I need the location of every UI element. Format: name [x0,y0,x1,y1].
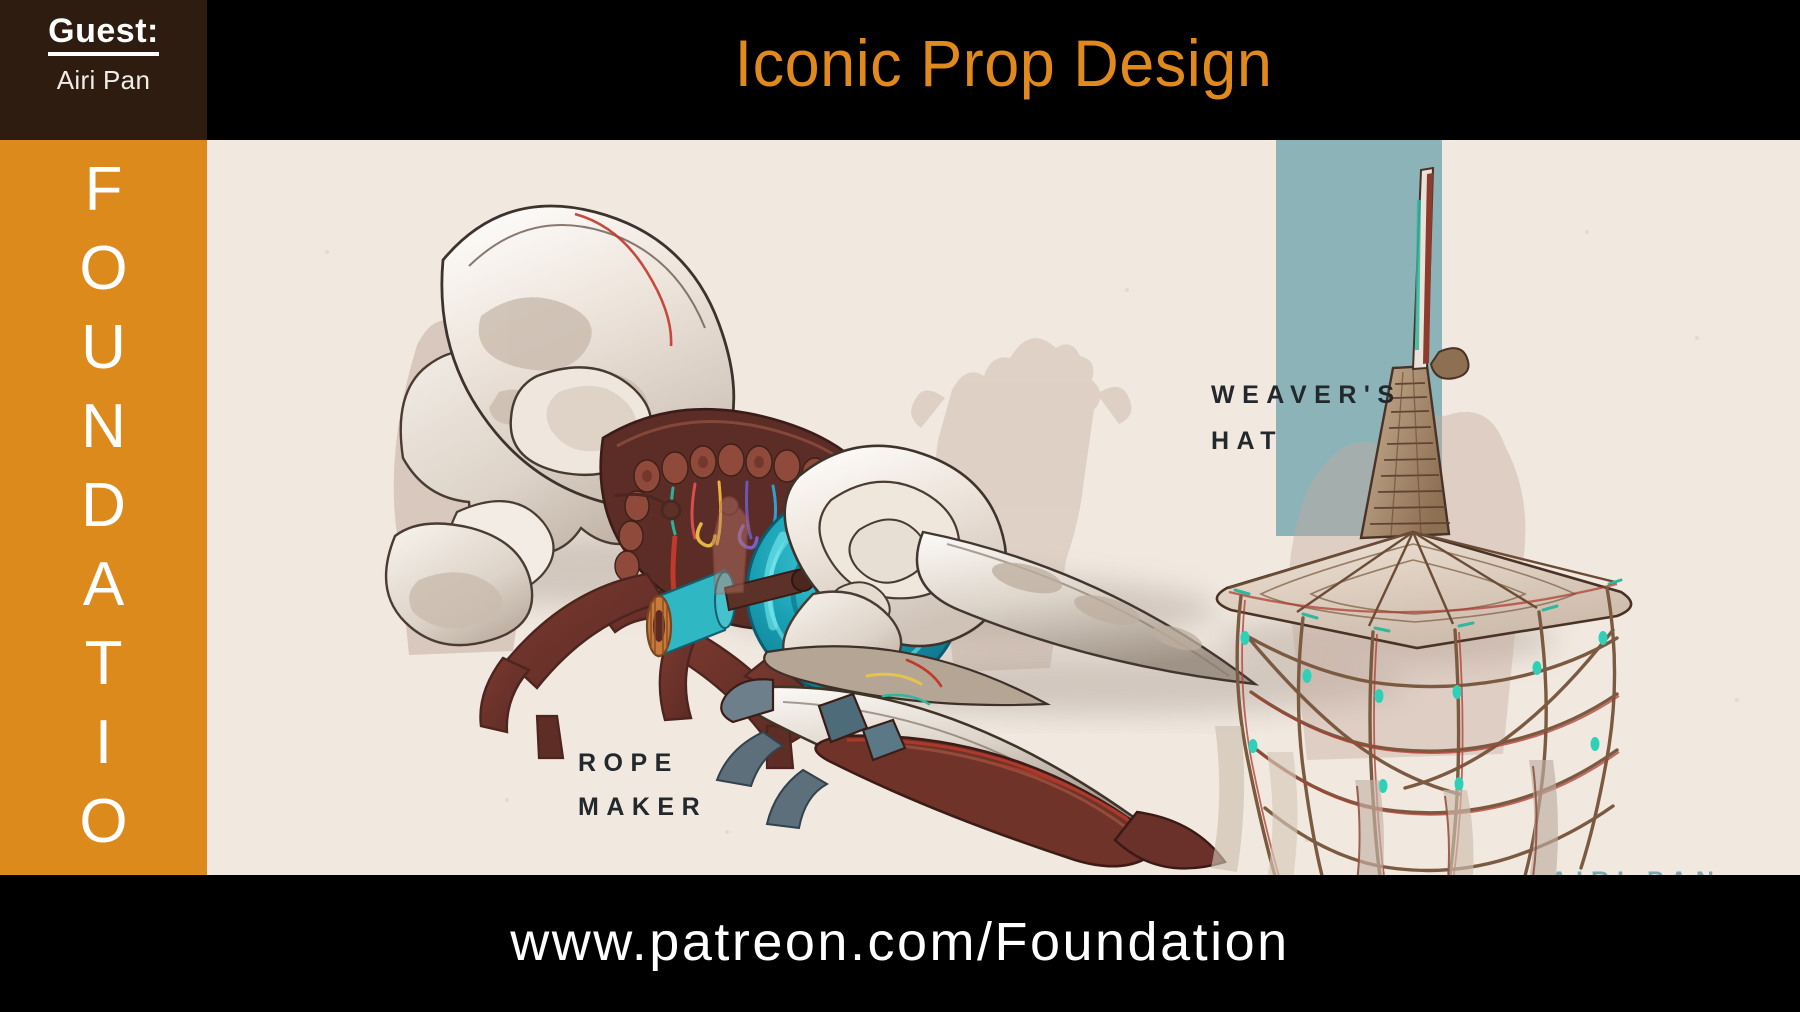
label-weaver-line1: WEAVER'S [1211,372,1402,418]
page-title: Iconic Prop Design [207,0,1800,140]
brand-letter: O [79,229,127,308]
concept-art-illustration [207,140,1800,875]
patreon-url[interactable]: www.patreon.com/Foundation [510,911,1289,973]
guest-name: Airi Pan [57,65,150,96]
label-rope-maker: ROPE MAKER [578,741,707,829]
concept-artwork: ROPE MAKER WEAVER'S HAT AIRI PAN [207,140,1800,875]
brand-letter: T [85,624,123,703]
brand-letter: N [81,387,126,466]
brand-letter: D [81,466,126,545]
guest-panel: Guest: Airi Pan [0,0,207,140]
brand-letter: F [85,150,123,229]
brand-letter: O [79,782,127,861]
label-weavers-hat: WEAVER'S HAT [1211,372,1402,464]
footer-bar: www.patreon.com/Foundation [0,875,1800,1012]
label-rope-line2: MAKER [578,785,707,829]
header-bar: Guest: Airi Pan Iconic Prop Design [0,0,1800,140]
brand-letter: I [95,703,112,782]
brand-letter: A [83,545,124,624]
slide-root: Guest: Airi Pan Iconic Prop Design F O U… [0,0,1800,1012]
page-title-text: Iconic Prop Design [735,27,1273,102]
label-rope-line1: ROPE [578,741,707,785]
brand-letter: U [81,308,126,387]
label-weaver-line2: HAT [1211,418,1402,464]
artist-watermark: AIRI PAN [1550,867,1722,875]
guest-label: Guest: [48,14,159,56]
